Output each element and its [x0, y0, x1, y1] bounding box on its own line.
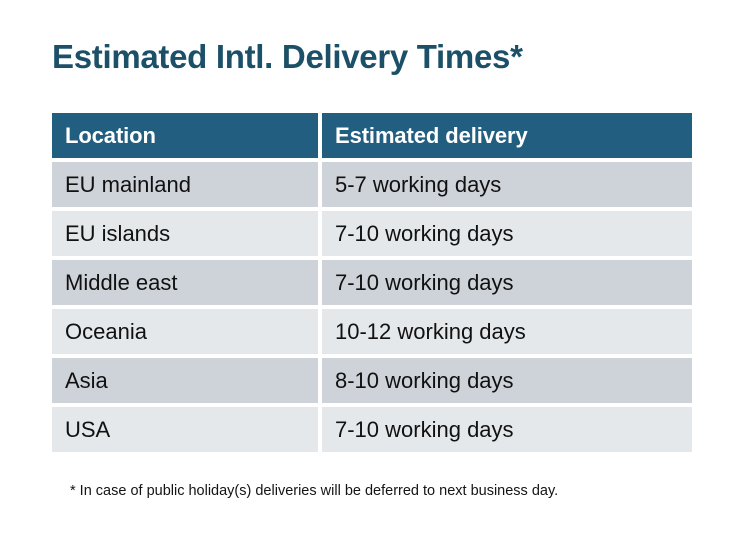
table-row: USA 7-10 working days: [52, 407, 692, 452]
cell-location: Middle east: [52, 260, 318, 305]
cell-location: USA: [52, 407, 318, 452]
cell-delivery: 8-10 working days: [322, 358, 692, 403]
table-row: EU islands 7-10 working days: [52, 211, 692, 256]
column-header-location: Location: [52, 113, 318, 158]
delivery-times-page: Estimated Intl. Delivery Times* Location…: [0, 0, 745, 536]
cell-location: EU mainland: [52, 162, 318, 207]
footnote-text: * In case of public holiday(s) deliverie…: [70, 481, 558, 501]
column-header-estimated-delivery: Estimated delivery: [322, 113, 692, 158]
cell-delivery: 5-7 working days: [322, 162, 692, 207]
table-row: Middle east 7-10 working days: [52, 260, 692, 305]
table-row: EU mainland 5-7 working days: [52, 162, 692, 207]
cell-location: Asia: [52, 358, 318, 403]
cell-location: Oceania: [52, 309, 318, 354]
table-row: Oceania 10-12 working days: [52, 309, 692, 354]
cell-location: EU islands: [52, 211, 318, 256]
cell-delivery: 7-10 working days: [322, 260, 692, 305]
table-header-row: Location Estimated delivery: [52, 113, 692, 158]
cell-delivery: 10-12 working days: [322, 309, 692, 354]
cell-delivery: 7-10 working days: [322, 407, 692, 452]
table-row: Asia 8-10 working days: [52, 358, 692, 403]
cell-delivery: 7-10 working days: [322, 211, 692, 256]
delivery-times-table: Location Estimated delivery EU mainland …: [52, 113, 692, 452]
page-title: Estimated Intl. Delivery Times*: [52, 36, 523, 78]
